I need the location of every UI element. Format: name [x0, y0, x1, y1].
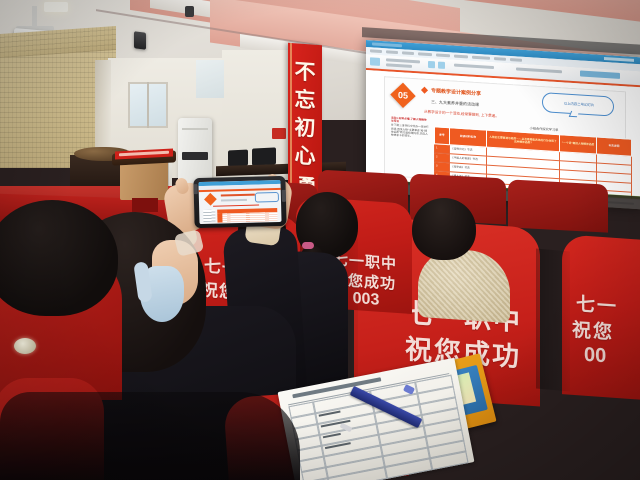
phone-slide-table-index-col	[217, 213, 222, 222]
ppt-tab-design[interactable]	[418, 52, 432, 56]
chair-far-3	[508, 179, 608, 232]
window-right	[196, 60, 224, 98]
exit-sign	[272, 128, 286, 139]
ac-vent-1	[182, 128, 208, 130]
chair-00x: 七一 祝您 00	[562, 234, 640, 402]
table-header-4: 补充说明	[598, 144, 630, 149]
phone-slide-badge	[204, 193, 217, 206]
table-header-1: 阅读材料名称	[451, 135, 485, 140]
smartphone-camera[interactable]	[193, 176, 286, 228]
podium-base	[132, 198, 158, 212]
ribbon-group-clipboard[interactable]	[370, 57, 380, 66]
ribbon-drawing-group[interactable]	[516, 67, 562, 73]
projector-mount-pole	[32, 6, 37, 28]
table-header-2: 人物的主要事迹与经历——以及是哪些具体的行为体现了这种精神品质?	[488, 135, 558, 146]
av-equipment-2	[252, 147, 276, 165]
phone-power-button[interactable]	[282, 190, 286, 202]
slide-left-note: 活动1:材料点播,了解人物精神与写法 在下面三组材料中任选一组进行阅读,围绕人物…	[391, 117, 429, 140]
phone-slide-leftnote	[203, 210, 215, 222]
ppt-tab-insert[interactable]	[402, 51, 414, 55]
slide-badge-05: 05	[390, 83, 415, 108]
ppt-tab-home[interactable]	[386, 50, 398, 54]
brooch-ornament	[14, 338, 36, 354]
chair-00x-line2: 祝您	[572, 315, 640, 348]
ribbon-italic-button[interactable]	[438, 62, 445, 69]
table-cell-index: 2	[436, 156, 448, 160]
speaker-right	[134, 31, 146, 50]
slide-badge-label: 05	[394, 86, 412, 105]
slide-left-note-body: 在下面三组材料中任选一组进行阅读,围绕人物“主要事迹”和“精神品质”两方面梳理内…	[391, 124, 429, 139]
ppt-title-text	[372, 42, 402, 47]
phone-slide-table-body	[217, 212, 277, 223]
table-cell-material: 《雷锋日记》节选	[451, 148, 485, 153]
ppt-tab-file[interactable]	[370, 49, 382, 53]
ppt-tab-animations[interactable]	[454, 55, 468, 59]
ppt-window-controls	[604, 57, 634, 62]
table-cell-material: 《钱学森》节选	[451, 166, 485, 171]
ponytail-hair-tie	[302, 242, 314, 249]
phone-slide-callout	[255, 192, 279, 203]
table-cell-index: 1	[436, 147, 448, 151]
phone-screen[interactable]	[198, 180, 281, 224]
table-header-0: 序号	[436, 134, 448, 138]
slide-callout-text: 以上内容二号幻灯片	[549, 100, 609, 109]
foreground-shadow	[0, 392, 300, 480]
callout-tail	[569, 111, 579, 117]
ppt-tab-slideshow[interactable]	[472, 56, 490, 60]
ppt-tab-view[interactable]	[510, 58, 522, 62]
auditorium-photo: 不 忘 初 心 勇 担	[0, 0, 640, 480]
phone-volume-button[interactable]	[194, 184, 198, 194]
heading-bullet-icon	[421, 87, 428, 94]
ribbon-bold-button[interactable]	[428, 61, 435, 68]
chair-gap-shadow-2	[536, 249, 570, 392]
banner-char-4: 心	[288, 139, 322, 171]
speaker-far	[185, 6, 194, 17]
av-equipment-1	[228, 149, 248, 166]
phone-slide-heading	[221, 194, 255, 197]
phone-slide-rednote	[213, 205, 259, 208]
ceiling-light	[44, 2, 68, 12]
ppt-tab-review[interactable]	[494, 57, 506, 61]
cream-coat-attendee-hair	[412, 198, 476, 260]
table-cell-index: 3	[436, 165, 448, 169]
window-mullion	[147, 82, 149, 128]
table-header-3: “一个词”概括人物精神品质	[561, 142, 595, 147]
ribbon-paragraph-group[interactable]	[454, 64, 494, 70]
phone-slide-subheading	[221, 199, 247, 201]
ribbon-shapes-gallery[interactable]	[580, 70, 620, 79]
ac-display	[182, 152, 208, 160]
vertical-banner: 不 忘 初 心 勇 担	[288, 43, 322, 205]
ppt-tab-transitions[interactable]	[436, 53, 450, 57]
podium-banner-text	[119, 151, 169, 157]
ribbon-font-size[interactable]	[386, 63, 412, 68]
chair-00x-number: 00	[584, 344, 640, 372]
table-cell-material: 《中国人的脊梁》节选	[451, 157, 485, 162]
